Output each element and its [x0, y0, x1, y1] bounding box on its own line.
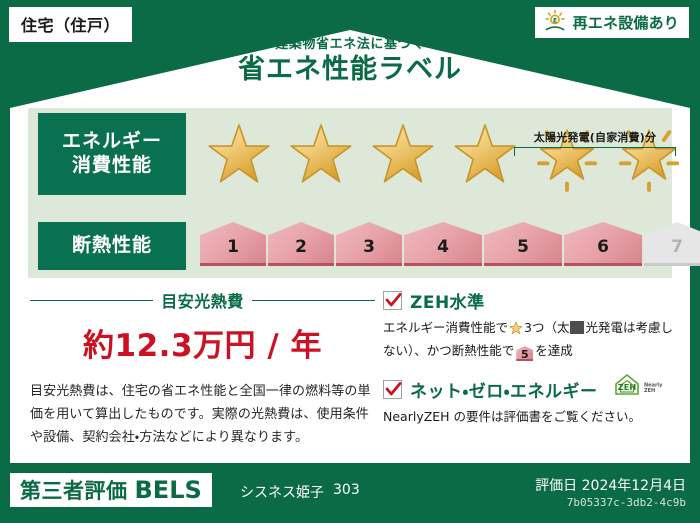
desc-part1: エネルギー消費性能で — [383, 320, 508, 335]
bels-badge: 第三者評価 BELS — [10, 473, 212, 507]
cost-heading-text: 目安光熱費 — [161, 288, 244, 312]
insulation-grade-track: 1 2 3 4 5 6 7 — [200, 222, 700, 266]
star-filled — [364, 115, 442, 193]
rule-right — [252, 300, 375, 301]
building-name: シスネス姫子 — [240, 482, 324, 502]
cost-disclaimer-text: 目安光熱費は、住宅の省エネ性能と全国一律の燃料等の単価を用いて算出したものです。… — [30, 381, 375, 449]
grade-value: 7 — [644, 222, 700, 266]
grade-cell: 1 — [200, 222, 266, 266]
energy-performance-row: エネルギー 消費性能 — [28, 113, 672, 195]
insulation-label-text: 断熱性能 — [72, 234, 152, 258]
page-title: 省エネ性能ラベル — [0, 54, 700, 85]
cost-heading: 目安光熱費 — [30, 288, 375, 312]
grade-cell: 4 — [404, 222, 482, 266]
grade-value: 3 — [336, 222, 402, 266]
footer-bar: 第三者評価 BELS シスネス姫子 303 評価日 2024年12月4日 7b0… — [0, 465, 700, 523]
star-filled — [446, 115, 524, 193]
utility-cost-section: 目安光熱費 約12.3万円 / 年 目安光熱費は、住宅の省エネ性能と全国一律の燃… — [30, 288, 375, 449]
zeh-section: ZEH水準 エネルギー消費性能で 3つ（太光発電は考慮しない）、かつ断熱性能で5… — [383, 288, 675, 427]
unit-number: 303 — [333, 482, 360, 498]
redacted-block — [570, 321, 584, 334]
grade-value: 4 — [404, 222, 482, 266]
evaluation-date-value: 2024年12月4日 — [582, 478, 686, 494]
solar-bracket-label: 太陽光発電(自家消費)分 — [514, 129, 676, 145]
energy-performance-label: エネルギー 消費性能 — [38, 113, 186, 195]
performance-panel: エネルギー 消費性能 — [28, 108, 672, 278]
energy-label-line2: 消費性能 — [72, 154, 152, 178]
zeh-standard-title: ZEH水準 — [410, 288, 485, 313]
zeh-standard-block: ZEH水準 エネルギー消費性能で 3つ（太光発電は考慮しない）、かつ断熱性能で5… — [383, 288, 675, 361]
svg-text:E: E — [553, 17, 557, 24]
evaluation-date-label: 評価日 — [535, 478, 577, 494]
svg-text:ZEH: ZEH — [618, 382, 637, 392]
evaluation-id: 7b05337c-3db2-4c9b — [567, 496, 686, 509]
inline-star-icon — [509, 321, 523, 341]
solar-generation-bracket: 太陽光発電(自家消費)分 — [514, 129, 676, 156]
renewable-energy-badge: E 再エネ設備あり — [534, 6, 690, 39]
estimated-cost-value: 約12.3万円 / 年 — [30, 320, 375, 365]
svg-text:ZEH: ZEH — [644, 388, 655, 394]
label-header: 建築物省エネ法に基づく 省エネ性能ラベル — [0, 38, 700, 85]
zeh-standard-header: ZEH水準 — [383, 288, 675, 313]
zeh-logo: ZEH Nearly ZEH — [613, 372, 671, 402]
bels-jp-label: 第三者評価 — [20, 475, 128, 505]
grade-cell: 5 — [484, 222, 562, 266]
rule-left — [30, 300, 153, 301]
checkbox-checked-icon — [383, 291, 402, 310]
insulation-performance-label: 断熱性能 — [38, 222, 186, 270]
bracket-line — [514, 147, 676, 156]
grade-cell: 6 — [564, 222, 642, 266]
energy-performance-label: 住宅（住戸） E 再エネ設備あり 建築物省エネ法に基づく 省エネ性能ラベル — [0, 0, 700, 523]
energy-label-line1: エネルギー — [62, 130, 162, 154]
renewable-badge-label: 再エネ設備あり — [573, 12, 679, 33]
net-zero-energy-block: ネット・ゼロ・エネルギー ZEH Nearly ZEH NearlyZEH の要… — [383, 377, 675, 427]
insulation-performance-row: 断熱性能 1 2 3 4 5 6 — [28, 222, 672, 270]
desc-star-count: 3つ（太 — [524, 320, 569, 335]
bels-en-label: BELS — [135, 476, 202, 504]
desc-part3: を達成 — [535, 343, 573, 358]
grade-cell: 3 — [336, 222, 402, 266]
star-filled — [200, 115, 278, 193]
net-zero-description: NearlyZEH の要件は評価書をご覧ください。 — [383, 407, 675, 427]
net-zero-title: ネット・ゼロ・エネルギー — [410, 377, 598, 402]
document-type-tag: 住宅（住戸） — [8, 6, 133, 43]
evaluation-date: 評価日 2024年12月4日 — [535, 475, 686, 495]
zeh-standard-description: エネルギー消費性能で 3つ（太光発電は考慮しない）、かつ断熱性能で5を達成 — [383, 318, 675, 361]
grade-value: 2 — [268, 222, 334, 266]
grade-cell: 7 — [644, 222, 700, 266]
star-filled — [282, 115, 360, 193]
grade-value: 1 — [200, 222, 266, 266]
solar-sun-icon: E — [543, 9, 567, 37]
grade-cell: 2 — [268, 222, 334, 266]
grade-value: 6 — [564, 222, 642, 266]
inline-grade-badge: 5 — [516, 346, 533, 361]
grade-value: 5 — [484, 222, 562, 266]
checkbox-checked-icon — [383, 380, 402, 399]
